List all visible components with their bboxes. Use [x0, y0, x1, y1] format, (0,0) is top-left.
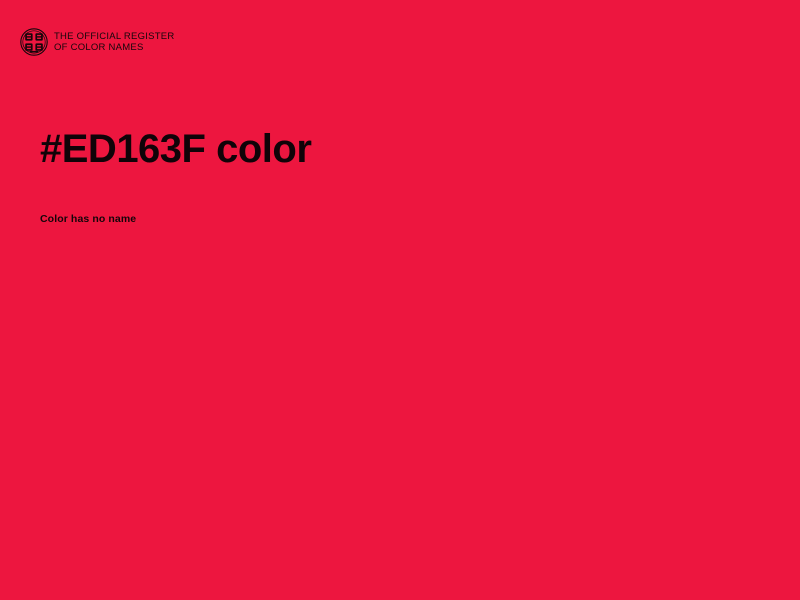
color-page: THE OFFICIAL REGISTER OF COLOR NAMES #ED… — [0, 0, 800, 600]
page-title: #ED163F color — [40, 126, 760, 172]
brand-header[interactable]: THE OFFICIAL REGISTER OF COLOR NAMES — [20, 28, 175, 56]
brand-line-2: OF COLOR NAMES — [54, 42, 175, 53]
brand-line-1: THE OFFICIAL REGISTER — [54, 31, 175, 42]
color-name-status: Color has no name — [40, 172, 760, 225]
color-info-block: #ED163F color Color has no name — [40, 126, 760, 225]
brand-wordmark: THE OFFICIAL REGISTER OF COLOR NAMES — [54, 31, 175, 53]
register-seal-icon — [20, 28, 48, 56]
